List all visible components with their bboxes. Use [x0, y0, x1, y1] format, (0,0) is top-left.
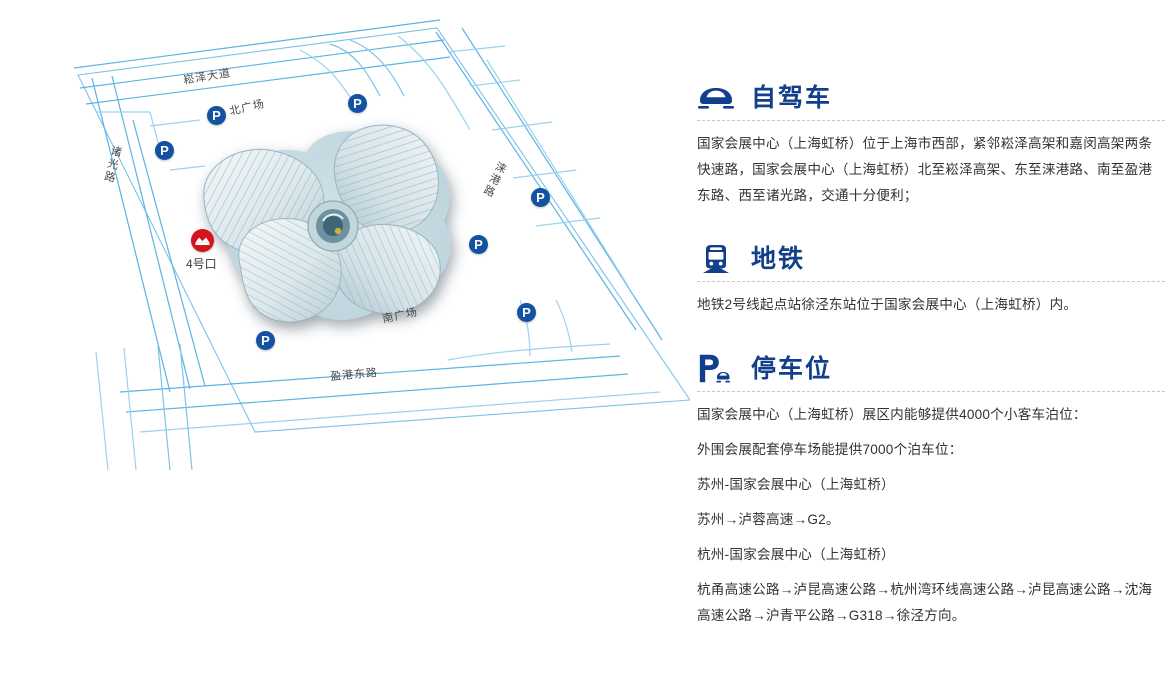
map-parking-marker[interactable]: P — [469, 235, 488, 254]
section-paragraph: 国家会展中心（上海虹桥）位于上海市西部，紧邻崧泽高架和嘉闵高架两条快速路，国家会… — [697, 131, 1165, 209]
train-icon — [697, 243, 735, 275]
section-header-parking: 停车位 — [697, 353, 1165, 391]
section-parking: 停车位 国家会展中心（上海虹桥）展区内能够提供4000个小客车泊位： 外围会展配… — [697, 353, 1165, 629]
section-paragraph: 苏州→泸蓉高速→G2。 — [697, 507, 1165, 533]
section-title-self-drive: 自驾车 — [751, 86, 832, 111]
section-divider — [697, 391, 1165, 392]
section-paragraph: 苏州-国家会展中心（上海虹桥） — [697, 472, 1165, 498]
map-parking-marker[interactable]: P — [517, 303, 536, 322]
section-divider — [697, 120, 1165, 121]
metro-logo-glyph — [191, 229, 214, 252]
venue-transport-page: 崧泽大道 诸光路 涞港路 盈港东路 北广场 南广场 P P P P P P P … — [0, 0, 1175, 683]
section-header-self-drive: 自驾车 — [697, 82, 1165, 120]
section-divider — [697, 281, 1165, 282]
map-parking-marker[interactable]: P — [531, 188, 550, 207]
car-icon — [697, 82, 735, 114]
section-paragraph: 杭甬高速公路→泸昆高速公路→杭州湾环线高速公路→泸昆高速公路→沈海高速公路→沪青… — [697, 577, 1165, 629]
section-title-parking: 停车位 — [751, 357, 832, 382]
map-metro-exit-label: 4号口 — [186, 255, 217, 272]
section-self-drive: 自驾车 国家会展中心（上海虹桥）位于上海市西部，紧邻崧泽高架和嘉闵高架两条快速路… — [697, 82, 1165, 218]
section-paragraph: 国家会展中心（上海虹桥）展区内能够提供4000个小客车泊位： — [697, 402, 1165, 428]
venue-location-map: 崧泽大道 诸光路 涞港路 盈港东路 北广场 南广场 P P P P P P P … — [0, 0, 690, 683]
parking-car-icon — [697, 353, 735, 385]
section-paragraph: 外围会展配套停车场能提供7000个泊车位： — [697, 437, 1165, 463]
section-title-metro: 地铁 — [751, 247, 805, 272]
map-parking-marker[interactable]: P — [207, 106, 226, 125]
map-parking-marker[interactable]: P — [348, 94, 367, 113]
section-metro: 地铁 地铁2号线起点站徐泾东站位于国家会展中心（上海虹桥）内。 — [697, 243, 1165, 327]
necc-building-render — [170, 95, 470, 335]
section-paragraph: 杭州-国家会展中心（上海虹桥） — [697, 542, 1165, 568]
map-parking-marker[interactable]: P — [256, 331, 275, 350]
map-parking-marker[interactable]: P — [155, 141, 174, 160]
section-header-metro: 地铁 — [697, 243, 1165, 281]
transport-info-panel: 自驾车 国家会展中心（上海虹桥）位于上海市西部，紧邻崧泽高架和嘉闵高架两条快速路… — [697, 0, 1165, 683]
section-paragraph: 地铁2号线起点站徐泾东站位于国家会展中心（上海虹桥）内。 — [697, 292, 1165, 318]
shanghai-metro-logo-icon[interactable] — [191, 229, 214, 252]
